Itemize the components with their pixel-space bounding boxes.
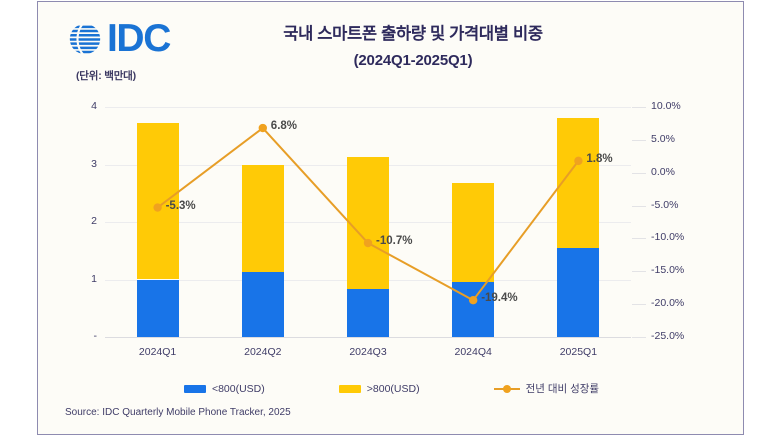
y-axis-tick-label: 3 (67, 158, 97, 170)
y2-axis-tick-label: -5.0% (651, 199, 711, 211)
line-data-point[interactable] (469, 296, 477, 304)
gridline (105, 165, 631, 166)
bar-segment[interactable] (137, 280, 179, 338)
bar-segment[interactable] (347, 157, 389, 289)
legend-label: >800(USD) (367, 383, 420, 395)
y2-axis-tick (632, 337, 646, 338)
bar-segment[interactable] (242, 165, 284, 273)
chart-page: IDC (단위: 백만대) 국내 스마트폰 출하량 및 가격대별 비중 (202… (0, 0, 780, 438)
line-data-label: 1.8% (586, 153, 612, 165)
y2-axis-tick (632, 140, 646, 141)
line-data-label: -10.7% (376, 235, 412, 247)
x-axis-tick-label: 2024Q2 (213, 346, 313, 358)
gridline (105, 107, 631, 108)
x-axis-tick-label: 2025Q1 (528, 346, 628, 358)
chart-subtitle: (2024Q1-2025Q1) (203, 52, 623, 69)
idc-wordmark: IDC (107, 19, 170, 58)
bar-segment[interactable] (557, 248, 599, 337)
gridline (105, 280, 631, 281)
line-data-point[interactable] (259, 124, 267, 132)
y-axis-tick-label: 1 (67, 273, 97, 285)
y2-axis-tick (632, 304, 646, 305)
legend-item[interactable]: <800(USD) (184, 383, 265, 395)
legend-item[interactable]: 전년 대비 성장률 (494, 381, 599, 396)
bar-segment[interactable] (452, 183, 494, 282)
gridline (105, 222, 631, 223)
y2-axis-tick (632, 107, 646, 108)
line-data-label: -19.4% (481, 292, 517, 304)
bar-segment[interactable] (452, 282, 494, 337)
y2-axis-tick-label: 5.0% (651, 133, 711, 145)
globe-icon (66, 20, 104, 58)
line-data-point[interactable] (574, 157, 582, 165)
legend-swatch-icon (339, 385, 361, 393)
line-data-point[interactable] (364, 239, 372, 247)
legend-line-marker-icon (494, 384, 520, 393)
y2-axis-tick (632, 206, 646, 207)
x-axis-tick-label: 2024Q1 (108, 346, 208, 358)
chart-title-block: 국내 스마트폰 출하량 및 가격대별 비중 (2024Q1-2025Q1) (203, 24, 623, 69)
y2-axis-tick-label: 0.0% (651, 166, 711, 178)
idc-logo: IDC (66, 19, 170, 58)
y-axis-tick-label: - (67, 330, 97, 342)
bar-segment[interactable] (347, 289, 389, 337)
line-data-label: 6.8% (271, 120, 297, 132)
bar-segment[interactable] (557, 118, 599, 249)
x-axis-tick-label: 2024Q4 (423, 346, 523, 358)
y2-axis-tick (632, 173, 646, 174)
y2-axis-tick (632, 271, 646, 272)
line-data-point[interactable] (153, 203, 161, 211)
legend-swatch-icon (184, 385, 206, 393)
line-data-label: -5.3% (166, 200, 196, 212)
unit-label: (단위: 백만대) (76, 68, 136, 83)
y2-axis-tick-label: -10.0% (651, 231, 711, 243)
source-note: Source: IDC Quarterly Mobile Phone Track… (65, 407, 291, 418)
x-axis-tick-label: 2024Q3 (318, 346, 418, 358)
chart-legend: <800(USD)>800(USD)전년 대비 성장률 (38, 381, 745, 396)
chart-card: IDC (단위: 백만대) 국내 스마트폰 출하량 및 가격대별 비중 (202… (37, 1, 744, 435)
y2-axis-tick (632, 238, 646, 239)
bar-segment[interactable] (242, 272, 284, 337)
y-axis-tick-label: 2 (67, 215, 97, 227)
y2-axis-tick-label: -20.0% (651, 297, 711, 309)
legend-item[interactable]: >800(USD) (339, 383, 420, 395)
y2-axis-tick-label: 10.0% (651, 100, 711, 112)
chart-title: 국내 스마트폰 출하량 및 가격대별 비중 (203, 24, 623, 45)
legend-label: <800(USD) (212, 383, 265, 395)
legend-label: 전년 대비 성장률 (526, 381, 599, 396)
gridline (105, 337, 631, 338)
y-axis-tick-label: 4 (67, 100, 97, 112)
y2-axis-tick-label: -25.0% (651, 330, 711, 342)
bar-segment[interactable] (137, 123, 179, 279)
y2-axis-tick-label: -15.0% (651, 264, 711, 276)
